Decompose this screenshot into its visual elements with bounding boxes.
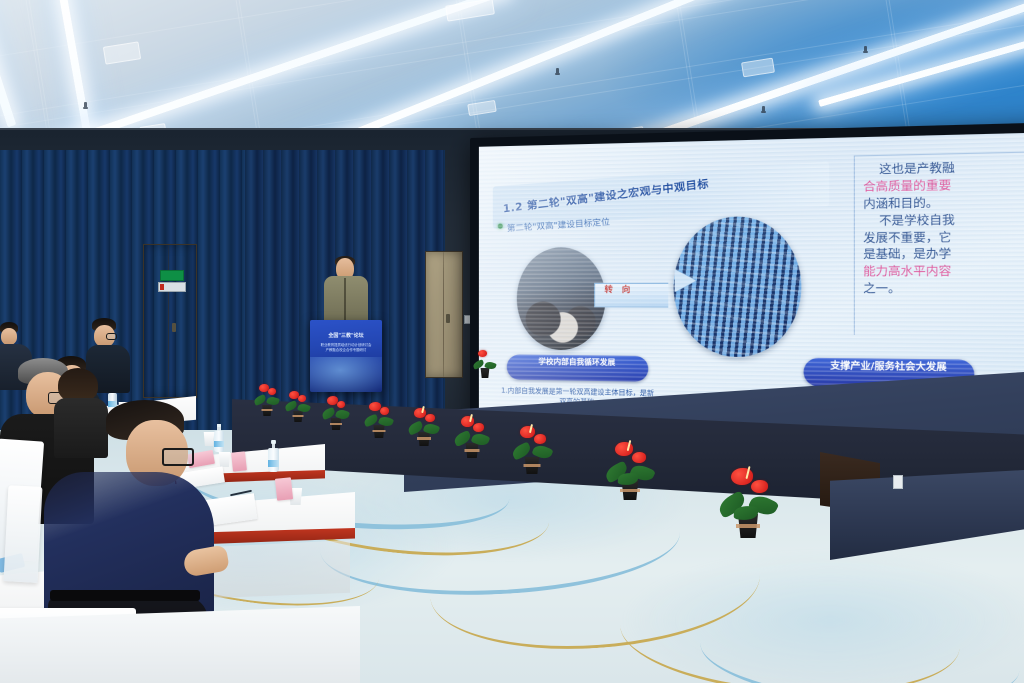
napkin [275,477,293,501]
potted-plant [510,424,554,474]
water-bottle[interactable] [214,424,224,452]
potted-plant [718,466,778,538]
slide-body-line: 发展不重要，它 [863,228,1024,247]
slide-body-line: 能力高水平内容 [863,263,1024,281]
transition-arrow: 转 向 [594,269,696,318]
sprinkler-icon [84,102,87,108]
slide-body-line: 不是学校自我 [863,210,1024,230]
line-text: 合高质量的重要 [863,178,951,194]
slide-body-line: 之一。 [863,280,1024,298]
potted-plant [362,400,396,438]
belt [50,590,200,601]
line-text: 这也是产教融 [879,161,955,177]
pot-band [293,415,304,417]
plant-bloom [380,407,389,415]
plant-leaf [253,394,267,406]
exit-sign [160,270,184,281]
speaker-body [324,276,368,324]
door-seam [443,252,444,377]
eyeglasses-icon [162,448,194,466]
paper-cup[interactable] [218,452,231,467]
door-seam [168,245,169,397]
sprinkler-icon [864,46,867,52]
slide-body-text: 这也是产教融 合高质量的重要 内涵和目的。 不是学校自我 发展不重要，它 [854,150,1024,336]
pot-band [262,409,273,411]
classroom-photo [517,247,605,350]
paper-cup[interactable] [203,432,215,446]
plant-bloom [268,388,276,395]
plant-bloom [731,468,753,485]
attendee-head [1,328,17,345]
line-text: 发展不重要，它 [863,230,951,245]
pot-band [620,489,640,492]
slide-body-line: 内涵和目的。 [863,192,1024,212]
arrow-label: 转 向 [604,284,633,295]
pot-band [465,449,480,452]
plant-bloom [298,395,306,402]
attendee-hair [58,368,98,402]
potted-plant [472,348,498,378]
chair-covered[interactable] [4,485,43,583]
napkin [231,451,247,471]
door-handle-icon[interactable] [172,323,176,332]
pot-band [330,423,342,425]
eyeglasses-icon [106,333,117,340]
arrow-head-icon [675,269,696,292]
pot-band [373,430,386,432]
podium: 全国"三教"论坛 职业教育提质培优行动计划研讨会 产教融合校企合作专题研讨 [310,320,382,392]
bottle-label [268,460,279,467]
slide-body-line: 是基础，是办学 [863,245,1024,264]
pot-band [736,524,760,528]
plant-bloom [337,401,345,408]
plant-bloom [473,423,484,432]
line-text: 之一。 [863,282,900,296]
door-handle-icon[interactable] [446,314,450,323]
potted-plant [604,440,656,500]
sprinkler-icon [762,106,765,112]
fire-icon [160,284,164,290]
potted-plant [320,394,352,430]
podium-subtitle-2: 产教融合校企合作专题研讨 [314,347,377,352]
water-bottle[interactable] [268,440,279,472]
potted-plant [452,414,492,458]
bullet-icon [498,224,503,229]
potted-plant [283,388,313,422]
podium-title: 全国"三教"论坛 [316,332,376,339]
conference-hall-photo: 1.2 第二轮"双高"建设之宏观与中观目标 第二轮"双高"建设目标定位 转 向 … [0,0,1024,683]
slide-pill-left: 学校内部自我循环发展 [506,355,648,383]
line-text: 内涵和目的。 [863,195,938,210]
podium-subtitle-1: 职业教育提质培优行动计划研讨会 [314,342,377,347]
speaker-jacket-zip [344,278,346,320]
pot-band [524,464,541,467]
plant-bloom [461,416,474,427]
plant-bloom [478,350,487,357]
door-right[interactable] [425,251,463,378]
plant-pot [480,368,491,378]
plant-bloom [520,426,535,438]
bottle-body [268,448,279,472]
pot-band [417,437,431,440]
plant-leaf [284,400,298,412]
plant-bloom [632,452,646,463]
sprinkler-icon [556,68,559,74]
plant-bloom [425,414,435,422]
line-text: 是基础，是办学 [863,247,951,262]
bottle-body [214,431,224,452]
plant-bloom [534,434,546,444]
bottle-label [214,441,224,447]
fire-equipment-sign [158,282,186,292]
plant-leaf [266,395,280,406]
line-text: 不是学校自我 [879,212,955,227]
door-left[interactable] [143,244,197,398]
stage-label-tag [893,475,903,489]
attendee-torso [54,398,108,458]
potted-plant [252,382,282,416]
line-text: 能力高水平内容 [863,264,951,278]
potted-plant [406,406,442,446]
plant-bloom [751,480,768,493]
table-foreground-front [0,606,360,683]
plant-bloom [615,442,633,456]
